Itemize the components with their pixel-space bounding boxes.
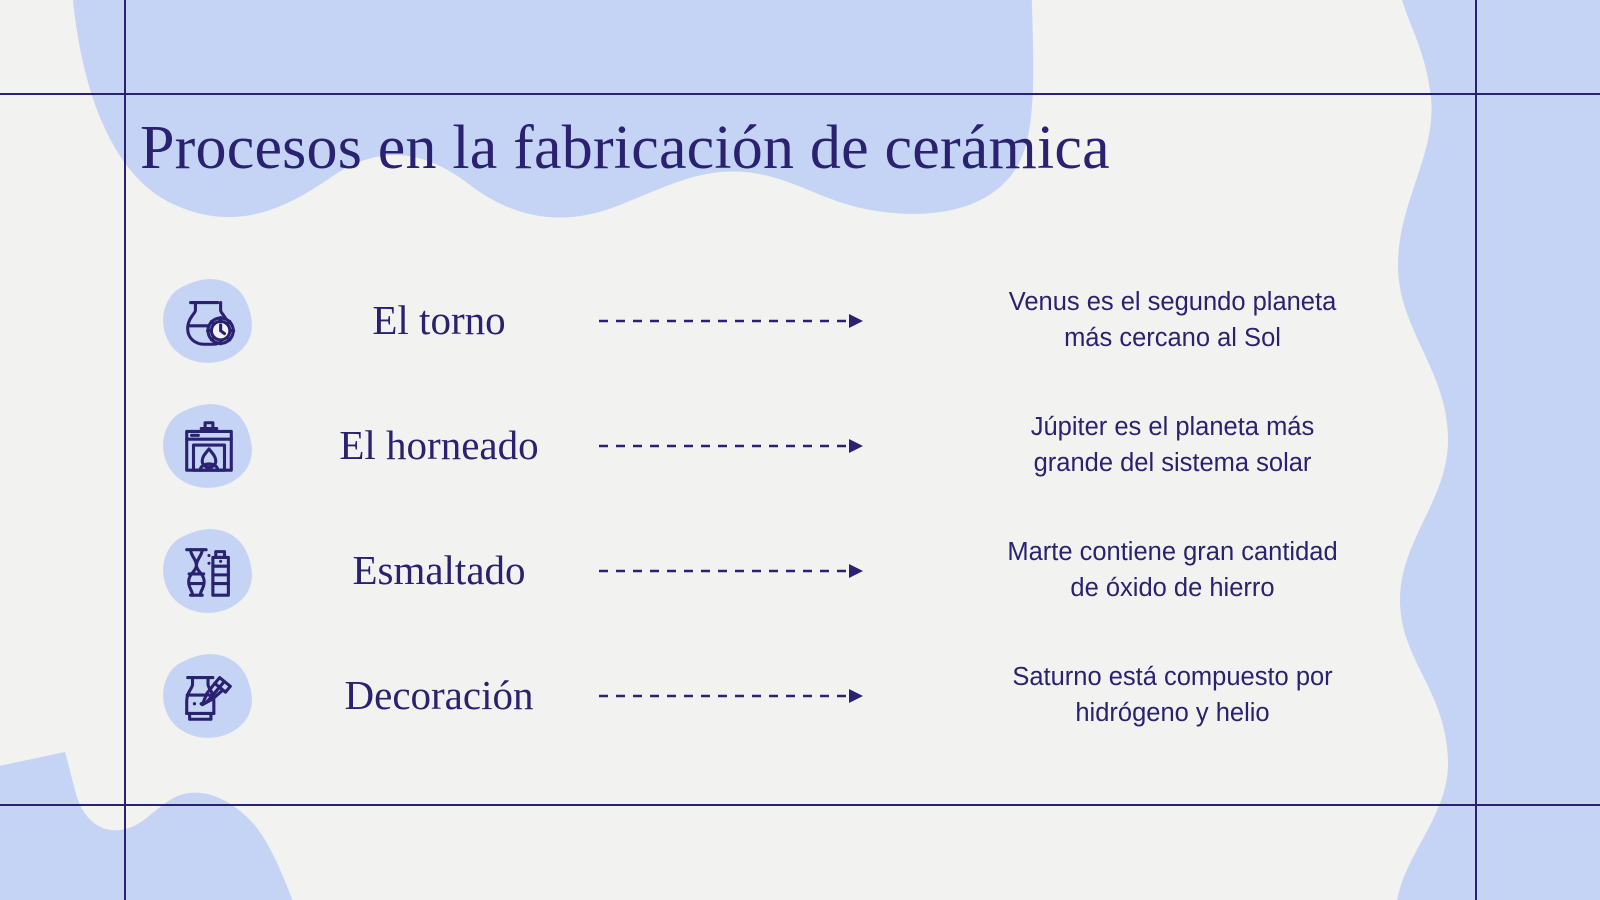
bottom-left-upper-blob-shape	[0, 765, 74, 900]
description-line-1: Saturno está compuesto por	[893, 660, 1452, 695]
process-icon-cell	[124, 258, 294, 383]
dashed-arrow-right-icon	[584, 437, 879, 455]
description-line-2: más cercano al Sol	[893, 321, 1452, 356]
list-item: Esmaltado Marte contiene gran cantidad d…	[124, 508, 1476, 633]
process-label: El horneado	[294, 423, 584, 468]
description-line-2: hidrógeno y helio	[893, 696, 1452, 731]
description-line-1: Venus es el segundo planeta	[893, 285, 1452, 320]
top-blob-shape	[70, 0, 1033, 218]
process-icon-cell	[124, 633, 294, 758]
process-description: Marte contiene gran cantidad de óxido de…	[879, 535, 1476, 605]
process-list: El torno Venus es el segundo planeta más…	[124, 258, 1476, 758]
process-icon-cell	[124, 383, 294, 508]
process-description: Venus es el segundo planeta más cercano …	[879, 285, 1476, 355]
page-title: Procesos en la fabricación de cerámica	[140, 113, 1440, 184]
bottom-left-blob-shape	[0, 752, 300, 900]
dashed-arrow-right-icon	[584, 312, 879, 330]
frame-line-top	[0, 93, 1600, 95]
process-label: El torno	[294, 298, 584, 343]
description-line-2: de óxido de hierro	[893, 571, 1452, 606]
process-label: Decoración	[294, 673, 584, 718]
description-line-1: Marte contiene gran cantidad	[893, 535, 1452, 570]
process-label: Esmaltado	[294, 548, 584, 593]
process-icon-cell	[124, 508, 294, 633]
description-line-2: grande del sistema solar	[893, 446, 1452, 481]
list-item: Decoración Saturno está compuesto por hi…	[124, 633, 1476, 758]
list-item: El horneado Júpiter es el planeta más gr…	[124, 383, 1476, 508]
description-line-1: Júpiter es el planeta más	[893, 410, 1452, 445]
process-description: Saturno está compuesto por hidrógeno y h…	[879, 660, 1476, 730]
kiln-furnace-flame-icon	[178, 415, 240, 477]
vase-paintbrush-icon	[178, 665, 240, 727]
frame-line-bottom	[0, 804, 1600, 806]
slide-canvas: Procesos en la fabricación de cerámica	[0, 0, 1600, 900]
dashed-arrow-right-icon	[584, 562, 879, 580]
list-item: El torno Venus es el segundo planeta más…	[124, 258, 1476, 383]
process-description: Júpiter es el planeta más grande del sis…	[879, 410, 1476, 480]
vase-spray-can-icon	[178, 540, 240, 602]
pottery-jar-timer-icon	[178, 290, 240, 352]
dashed-arrow-right-icon	[584, 687, 879, 705]
